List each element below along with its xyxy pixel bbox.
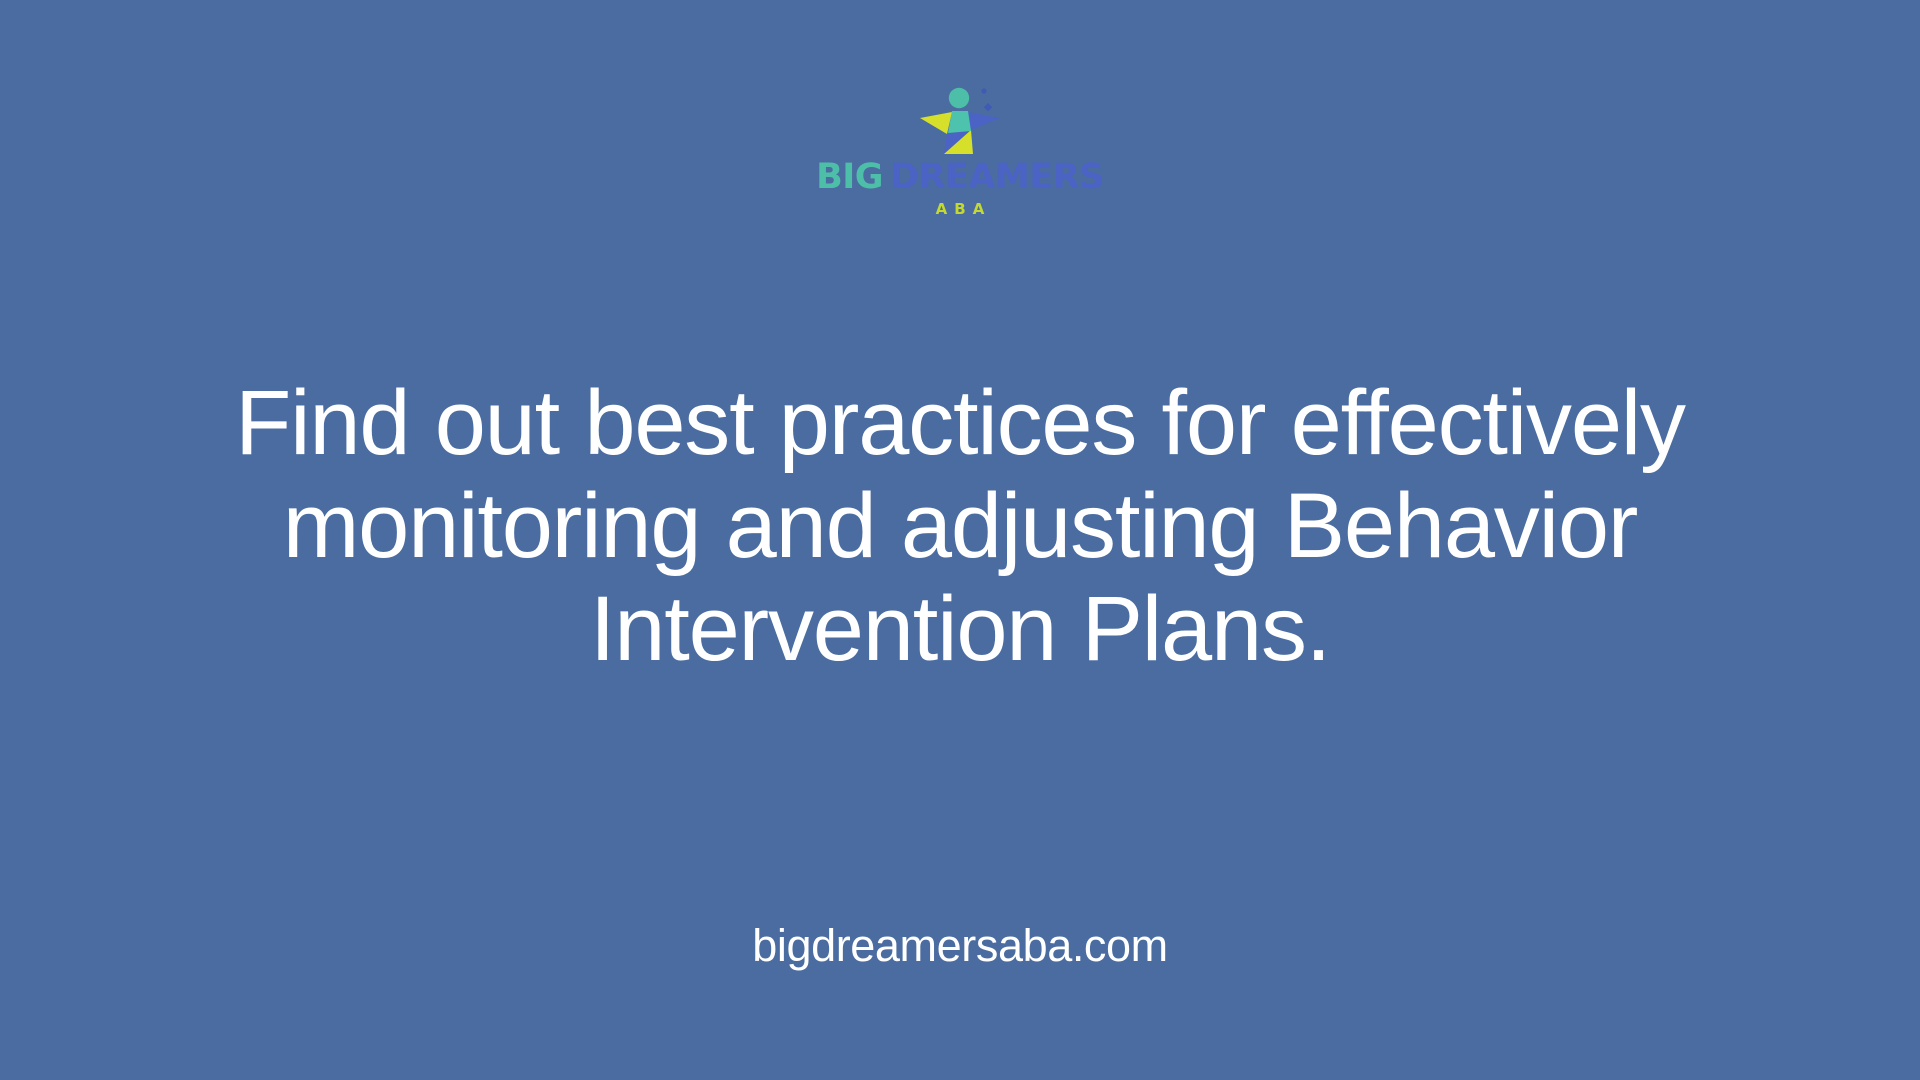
logo-word-big: BIG (816, 160, 883, 195)
logo-wordmark: BIG DREAMERS (816, 160, 1104, 195)
social-card: BIG DREAMERS ABA Find out best practices… (0, 0, 1920, 1080)
logo-lockup: BIG DREAMERS ABA (830, 78, 1090, 217)
logo-subtitle: ABA (929, 202, 992, 217)
headline: Find out best practices for effectively … (0, 372, 1920, 681)
logo-word-dreamers: DREAMERS (890, 160, 1104, 195)
big-dreamers-star-person-mark (914, 78, 1006, 156)
website-url: bigdreamersaba.com (0, 918, 1920, 974)
